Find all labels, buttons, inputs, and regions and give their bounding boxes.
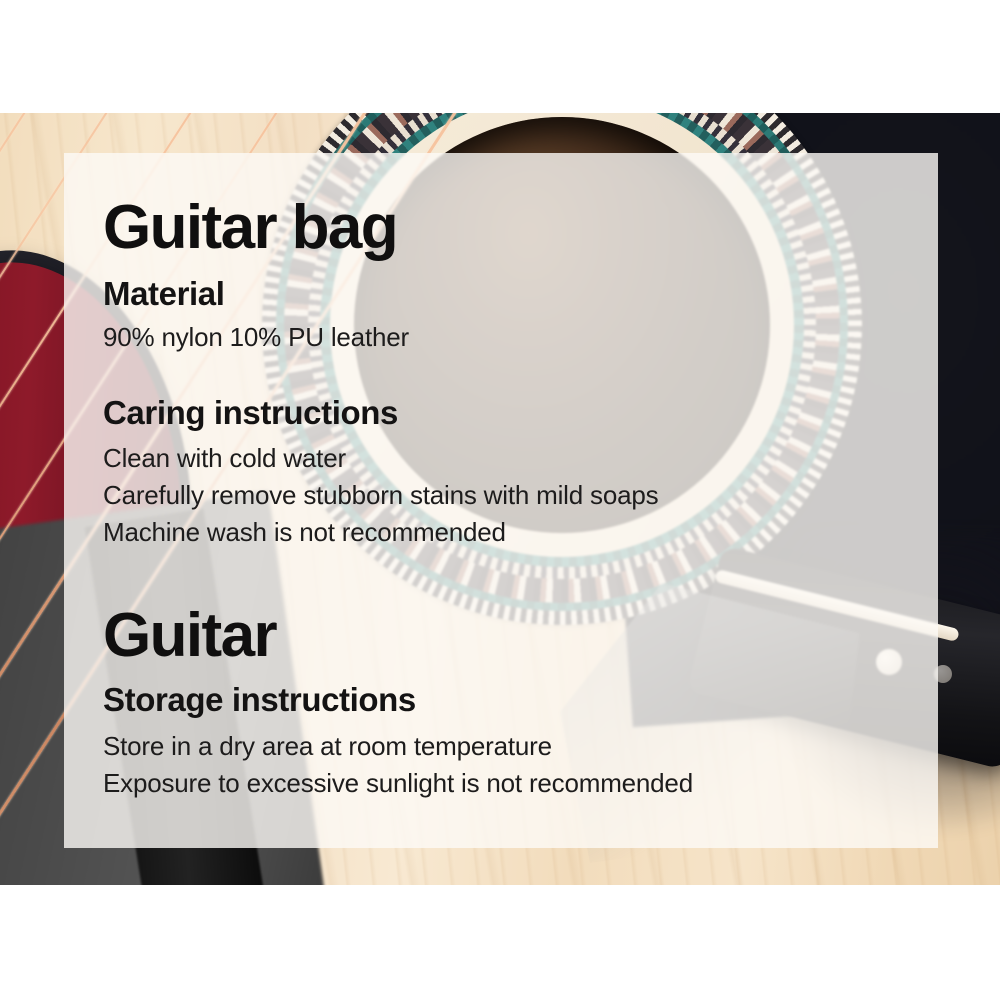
section-guitar: Guitar Storage instructions Store in a d…	[103, 605, 938, 803]
caring-instruction-lines: Clean with cold water Carefully remove s…	[103, 440, 938, 551]
group-material: Material 90% nylon 10% PU leather	[103, 275, 938, 356]
storage-instruction-lines: Store in a dry area at room temperature …	[103, 728, 938, 802]
section-title-guitar-bag: Guitar bag	[103, 197, 938, 259]
caring-line-3: Machine wash is not recommended	[103, 514, 938, 551]
heading-material: Material	[103, 275, 938, 313]
heading-storage-instructions: Storage instructions	[103, 681, 938, 719]
storage-line-2: Exposure to excessive sunlight is not re…	[103, 765, 938, 802]
section-guitar-bag: Guitar bag Material 90% nylon 10% PU lea…	[103, 197, 938, 551]
info-panel: Guitar bag Material 90% nylon 10% PU lea…	[64, 153, 938, 848]
group-storage-instructions: Storage instructions Store in a dry area…	[103, 681, 938, 803]
page-canvas: Guitar bag Material 90% nylon 10% PU lea…	[0, 0, 1000, 1000]
heading-caring-instructions: Caring instructions	[103, 394, 938, 432]
product-photo: Guitar bag Material 90% nylon 10% PU lea…	[0, 113, 1000, 885]
group-caring-instructions: Caring instructions Clean with cold wate…	[103, 394, 938, 551]
material-line-1: 90% nylon 10% PU leather	[103, 319, 938, 356]
storage-line-1: Store in a dry area at room temperature	[103, 728, 938, 765]
caring-line-2: Carefully remove stubborn stains with mi…	[103, 477, 938, 514]
section-title-guitar: Guitar	[103, 605, 938, 667]
caring-line-1: Clean with cold water	[103, 440, 938, 477]
